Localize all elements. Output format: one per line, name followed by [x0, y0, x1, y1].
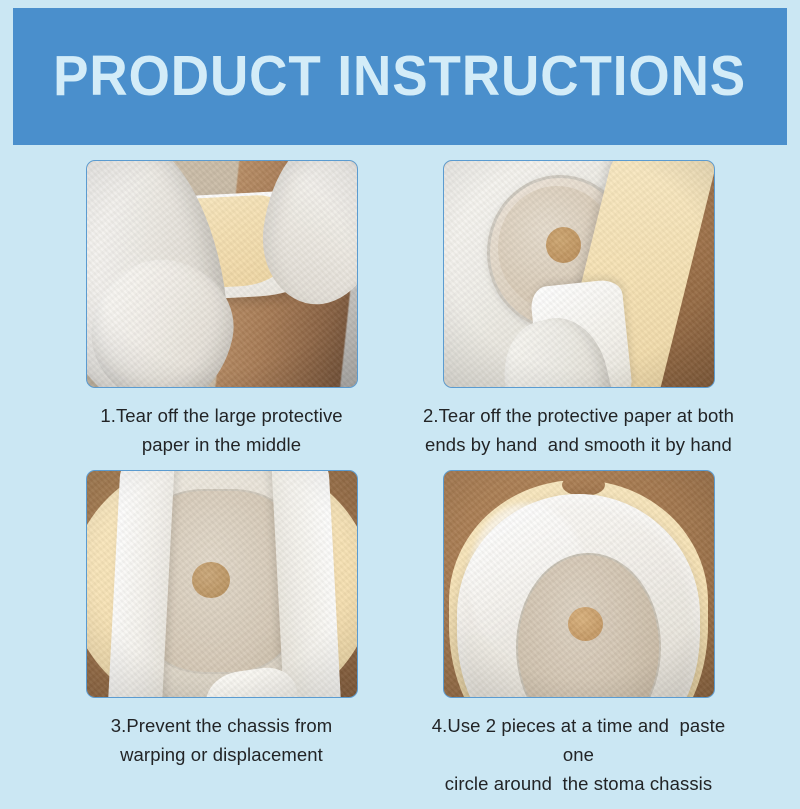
step-4-caption: 4.Use 2 pieces at a time and paste one c…	[419, 712, 739, 798]
step-2-caption: 2.Tear off the protective paper at both …	[419, 402, 739, 459]
photo-vignette	[87, 471, 357, 697]
step-row-2: 3.Prevent the chassis from warping or di…	[0, 470, 800, 798]
header-banner: PRODUCT INSTRUCTIONS	[13, 8, 787, 145]
step-1-photo	[86, 160, 358, 388]
page-title: PRODUCT INSTRUCTIONS	[53, 48, 746, 105]
photo-vignette	[444, 161, 714, 387]
step-4-photo	[443, 470, 715, 698]
instruction-steps-grid: 1.Tear off the large protective paper in…	[0, 160, 800, 809]
step-item-4: 4.Use 2 pieces at a time and paste one c…	[443, 470, 715, 798]
step-3-caption: 3.Prevent the chassis from warping or di…	[62, 712, 382, 769]
step-item-2: 2.Tear off the protective paper at both …	[443, 160, 715, 459]
step-1-caption: 1.Tear off the large protective paper in…	[62, 402, 382, 459]
step-row-1: 1.Tear off the large protective paper in…	[0, 160, 800, 459]
photo-vignette	[444, 471, 714, 697]
step-item-1: 1.Tear off the large protective paper in…	[86, 160, 358, 459]
step-item-3: 3.Prevent the chassis from warping or di…	[86, 470, 358, 798]
step-2-photo	[443, 160, 715, 388]
photo-vignette	[87, 161, 357, 387]
step-3-photo	[86, 470, 358, 698]
